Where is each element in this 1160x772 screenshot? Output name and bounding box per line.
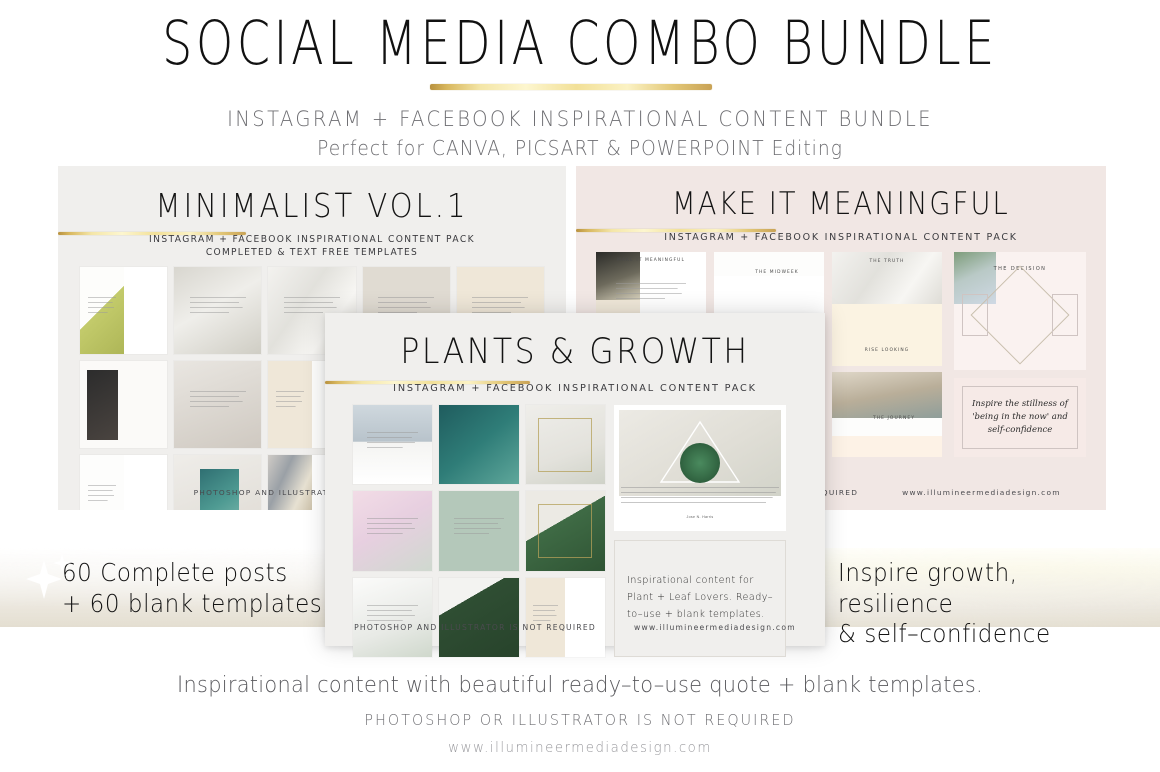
panel-subtitle-left-1: INSTAGRAM + FACEBOOK INSPIRATIONAL CONTE… — [66, 234, 559, 245]
tile-label: RISE LOOKING — [832, 348, 942, 353]
template-thumbnail — [174, 361, 261, 448]
hero-citation: Jose N. Harris — [614, 515, 786, 519]
panel-footer-center: PHOTOSHOP AND ILLUSTRATOR IS NOT REQUIRE… — [325, 623, 825, 632]
panel-subtitle-left-2: COMPLETED & TEXT FREE TEMPLATES — [66, 247, 559, 258]
script-quote-text: Inspire the stillness of 'being in the n… — [968, 398, 1072, 436]
panel-title-plants: PLANTS & GROWTH — [350, 332, 800, 372]
template-thumbnail — [353, 405, 432, 484]
footer-line-1: Inspirational content with beautiful rea… — [29, 673, 1131, 698]
tile-label: THE MIDWEEK — [740, 270, 814, 275]
template-thumbnail — [353, 578, 432, 657]
template-thumbnail: THE JOURNEY — [832, 372, 942, 457]
template-thumbnail — [80, 267, 167, 354]
template-thumbnail-featured: THE DECISION — [954, 252, 1086, 370]
panel-title-meaningful: MAKE IT MEANINGFUL — [608, 186, 1074, 222]
template-thumbnail — [80, 361, 167, 448]
panel-subtitle-right-1: INSTAGRAM + FACEBOOK INSPIRATIONAL CONTE… — [584, 232, 1098, 243]
gold-divider-header — [430, 84, 712, 90]
sparkle-icon — [24, 554, 78, 604]
footer-line-2: PHOTOSHOP OR ILLUSTRATOR IS NOT REQUIRED — [29, 711, 1131, 729]
panel-subtitle-center: INSTAGRAM + FACEBOOK INSPIRATIONAL CONTE… — [333, 383, 818, 394]
panel-title-minimalist: MINIMALIST VOL.1 — [88, 186, 535, 225]
footer-line-3: www.illumineermediadesign.com — [29, 740, 1131, 756]
banner-left-text: 60 Complete posts + 60 blank templates — [62, 558, 322, 619]
tile-label: THE TRUTH — [832, 259, 942, 264]
template-thumbnail — [174, 455, 261, 510]
panel-footer-right-url: www.illumineermediadesign.com — [902, 488, 1061, 497]
center-card-body: Jose N. Harris Inspirational content for… — [353, 405, 797, 657]
center-card-side: Jose N. Harris Inspirational content for… — [614, 405, 786, 657]
promo-note-text: Inspirational content for Plant + Leaf L… — [627, 573, 773, 623]
template-thumbnail — [80, 455, 167, 510]
template-thumbnail — [526, 491, 605, 570]
poster-canvas: SOCIAL MEDIA COMBO BUNDLE INSTAGRAM + FA… — [0, 0, 1160, 772]
template-thumbnail — [353, 491, 432, 570]
tile-label: THE JOURNEY — [850, 416, 938, 421]
panel-footer-center-left: PHOTOSHOP AND ILLUSTRATOR IS NOT REQUIRE… — [354, 623, 596, 632]
header-subtitle-2: Perfect for CANVA, PICSART & POWERPOINT … — [41, 136, 1120, 160]
promo-note-box: Inspirational content for Plant + Leaf L… — [614, 540, 786, 657]
template-thumbnail — [439, 491, 518, 570]
template-thumbnail: THE TRUTH RISE LOOKING — [832, 252, 942, 366]
product-panel-plants[interactable]: PLANTS & GROWTH INSTAGRAM + FACEBOOK INS… — [325, 313, 825, 646]
panel-footer-center-url: www.illumineermediadesign.com — [634, 623, 796, 632]
template-thumbnail — [174, 267, 261, 354]
template-thumbnail — [526, 578, 605, 657]
script-quote-card: Inspire the stillness of 'being in the n… — [954, 378, 1086, 457]
template-thumbnail — [439, 405, 518, 484]
page-title: SOCIAL MEDIA COMBO BUNDLE — [128, 8, 1033, 79]
header-subtitle-1: INSTAGRAM + FACEBOOK INSPIRATIONAL CONTE… — [41, 107, 1120, 131]
tile-label: MAKE IT MEANINGFUL — [596, 258, 706, 263]
template-thumbnail-grid-center — [353, 405, 605, 657]
template-thumbnail — [439, 578, 518, 657]
template-thumbnail — [526, 405, 605, 484]
banner-right-text: Inspire growth, resilience & self–confid… — [838, 558, 1134, 650]
hero-template-card: Jose N. Harris — [614, 405, 786, 531]
